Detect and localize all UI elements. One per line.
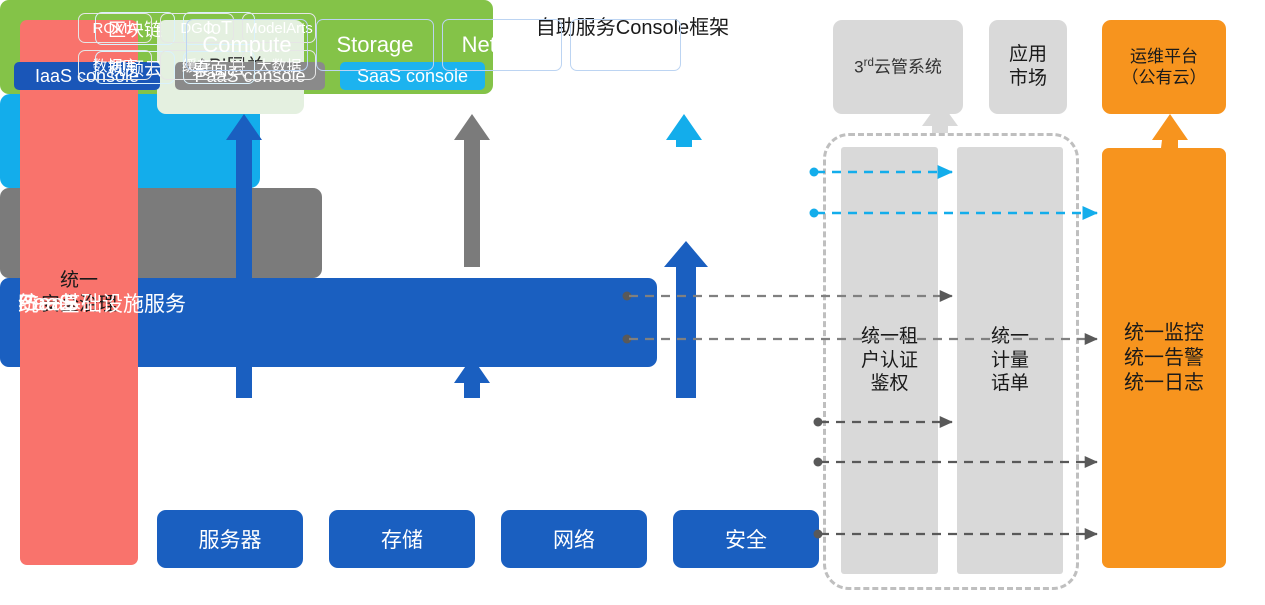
auth-line-3: 鉴权 [870,373,908,394]
arrow-saas-to-saas-console [666,114,702,147]
unified-monitoring-label: 统一监控 统一告警 统一日志 [1124,321,1204,396]
app-market-label: 应用 市场 [1009,43,1047,91]
unified-tenant-auth-column: 统一租 户认证 鉴权 [841,147,938,574]
paas-service-roma-label: ROMA [93,20,138,37]
infra-service-cce-label: CCE [602,32,648,58]
unified-metering-billing-column: 统一 计量 话单 [957,147,1063,574]
meter-line-1: 统一 [991,326,1029,347]
ops-platform-line-1: 运维平台 [1130,47,1198,66]
infra-service-compute-label: Compute [202,32,291,58]
paas-service-roma[interactable]: ROMA [78,13,152,43]
app-market-line-1: 应用 [1009,44,1047,65]
unified-monitoring-column: 统一监控 统一告警 统一日志 [1102,148,1226,568]
infra-service-storage-label: Storage [336,32,413,58]
paas-service-database-label: 数据库 [92,55,137,76]
unified-metering-billing-label: 统一 计量 话单 [991,325,1029,396]
hardware-box-security: 安全 [673,510,819,568]
hardware-box-network: 网络 [501,510,647,568]
third-party-prefix: 3 [854,58,863,77]
hardware-box-network-label: 网络 [553,524,595,554]
third-party-rest: 云管系统 [874,58,942,77]
meter-line-2: 计量 [991,350,1029,371]
ops-platform-label: 运维平台 （公有云） [1122,46,1207,89]
ops-platform-line-2: （公有云） [1122,68,1207,87]
ops-col-line-1: 统一监控 [1124,322,1204,344]
infra-service-network[interactable]: Network [442,19,562,71]
third-party-cloud-mgmt-label: 3rd云管系统 [854,56,942,78]
arrow-ops-column-to-ops-platform [1152,114,1188,148]
third-party-cloud-mgmt-box: 3rd云管系统 [833,20,963,114]
arrow-infra-to-saas [664,241,708,398]
infra-service-storage[interactable]: Storage [316,19,434,71]
ops-col-line-3: 统一日志 [1124,372,1204,394]
arrow-paas-to-console [454,114,490,267]
infra-service-compute[interactable]: Compute [186,19,308,71]
app-market-box: 应用 市场 [989,20,1067,114]
unified-tenant-auth-label: 统一租 户认证 鉴权 [861,325,918,396]
unified-infrastructure-label: 统一基础设施服务 [18,288,186,318]
ops-platform-public-cloud-box: 运维平台 （公有云） [1102,20,1226,114]
hardware-box-security-label: 安全 [725,524,767,554]
auth-line-1: 统一租 [861,326,918,347]
hardware-box-server: 服务器 [157,510,303,568]
meter-line-3: 话单 [991,373,1029,394]
ops-col-line-2: 统一告警 [1124,347,1204,369]
app-market-line-2: 市场 [1009,68,1047,89]
architecture-diagram: 统一 安全治理 API网关 自助服务Console框架 IaaS console… [0,0,1265,605]
third-party-superscript: rd [864,57,874,69]
hardware-box-storage-label: 存储 [381,524,423,554]
auth-line-2: 户认证 [861,350,918,371]
hardware-box-server-label: 服务器 [199,524,262,554]
infra-service-cce[interactable]: CCE [570,19,681,71]
paas-service-database[interactable]: 数据库 [78,50,152,80]
infra-service-network-label: Network [462,32,543,58]
hardware-box-storage: 存储 [329,510,475,568]
